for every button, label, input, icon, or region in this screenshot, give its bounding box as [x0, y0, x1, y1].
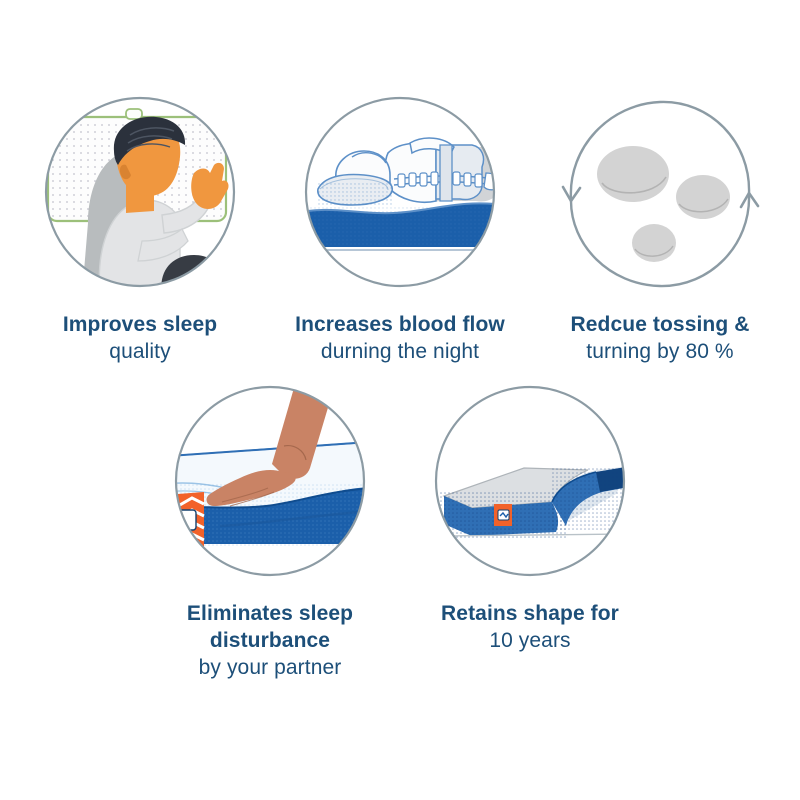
feature-caption: Retains shape for 10 years: [441, 600, 619, 655]
feature-caption-line1: Increases blood flow: [295, 311, 505, 338]
feature-caption-line2: durning the night: [295, 338, 505, 365]
feature-icon-wrap: flo: [155, 384, 385, 584]
feature-card-reduce-tossing-turning: Redcue tossing & turning by 80 %: [530, 95, 790, 366]
pebble-large: [597, 146, 669, 202]
side-sleeper-on-pillow-icon: [30, 95, 250, 295]
feature-icon-wrap: [415, 384, 645, 584]
feature-caption: Improves sleep quality: [63, 311, 217, 366]
feature-caption-line1: Improves sleep: [63, 311, 217, 338]
rotation-arrows-icon: [550, 95, 770, 295]
feature-icon-wrap: [285, 95, 515, 295]
feature-row-top: Improves sleep quality: [0, 0, 800, 366]
feature-icon-wrap: [25, 95, 255, 295]
feature-caption: Increases blood flow durning the night: [295, 311, 505, 366]
feature-caption-line1: Redcue tossing &: [571, 311, 750, 338]
feature-caption-line1: Eliminates sleep disturbance: [140, 600, 400, 655]
feature-card-retains-shape: Retains shape for 10 years: [400, 384, 660, 655]
mattress-bent-corner-icon: [420, 384, 640, 584]
feature-caption: Redcue tossing & turning by 80 %: [571, 311, 750, 366]
feature-row-bottom: flo Eliminates sleep disturbance: [0, 366, 800, 682]
hand-pressing-mattress-icon: flo: [160, 384, 380, 584]
feature-card-improves-sleep-quality: Improves sleep quality: [10, 95, 270, 366]
feature-icon-wrap: [545, 95, 775, 295]
feature-caption: Eliminates sleep disturbance by your par…: [140, 600, 400, 682]
feature-caption-line2: quality: [63, 338, 217, 365]
brand-badge: [160, 510, 196, 530]
pebble-medium: [676, 175, 730, 219]
feature-caption-line1: Retains shape for: [441, 600, 619, 627]
feature-caption-line2: by your partner: [140, 654, 400, 681]
feature-card-eliminates-sleep-disturbance: flo Eliminates sleep disturbance: [140, 384, 400, 682]
spine-alignment-on-mattress-icon: [290, 95, 510, 295]
feature-caption-line2: turning by 80 %: [571, 338, 750, 365]
pebble-small: [632, 224, 676, 262]
feature-card-increases-blood-flow: Increases blood flow durning the night: [270, 95, 530, 366]
feature-caption-line2: 10 years: [441, 627, 619, 654]
feature-benefits-board: Improves sleep quality: [0, 0, 800, 800]
